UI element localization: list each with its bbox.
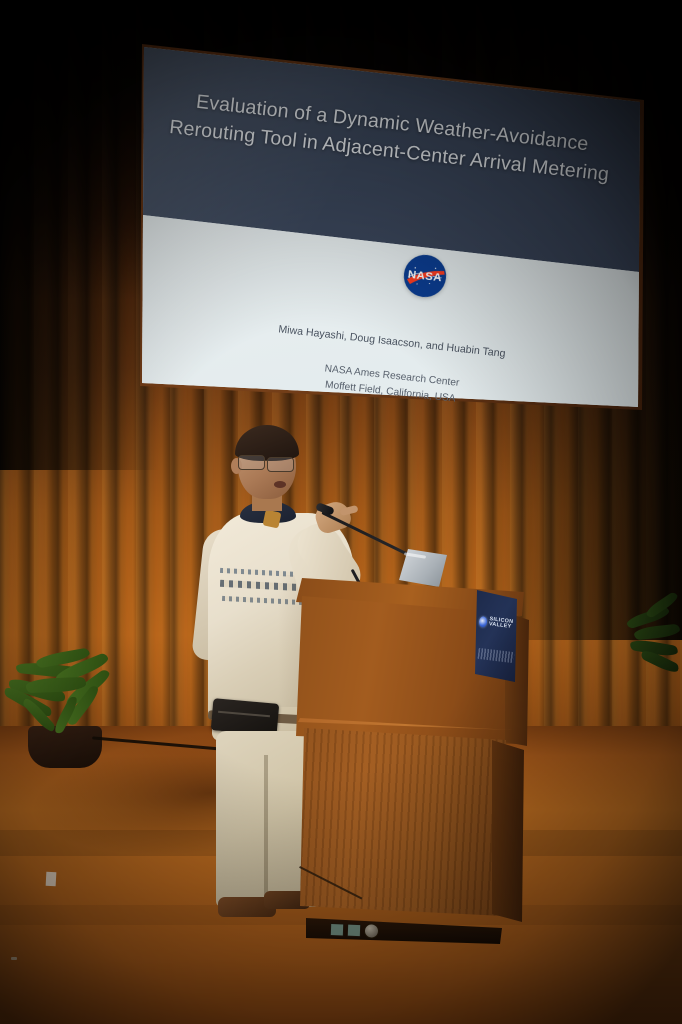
presentation-photo: Evaluation of a Dynamic Weather-Avoidanc… xyxy=(0,0,682,1024)
podium-control-panel[interactable] xyxy=(330,923,386,938)
speaker-mouth xyxy=(274,481,286,488)
speaker-glasses xyxy=(236,455,298,469)
speaker-neck-accent xyxy=(263,510,282,529)
panel-port-2[interactable] xyxy=(347,924,361,937)
left-wall-shadow xyxy=(0,0,160,470)
panel-knob[interactable] xyxy=(364,923,380,939)
podium-sticker xyxy=(46,872,57,887)
podium-wood-grain xyxy=(300,728,508,924)
projection-screen: Evaluation of a Dynamic Weather-Avoidanc… xyxy=(138,36,646,414)
floor-debris xyxy=(11,957,17,960)
podium-sign-logo: SILICON VALLEY xyxy=(478,610,514,636)
nasa-meatball-logo: NASA xyxy=(401,252,449,300)
right-plant-palm xyxy=(622,596,682,716)
trouser-crease xyxy=(264,755,268,905)
podium-base-side xyxy=(492,738,524,928)
panel-port-1[interactable] xyxy=(330,923,344,936)
plant-pot xyxy=(28,726,102,768)
sign-word-2: VALLEY xyxy=(488,622,512,630)
sign-logo-mark-icon xyxy=(478,615,487,627)
